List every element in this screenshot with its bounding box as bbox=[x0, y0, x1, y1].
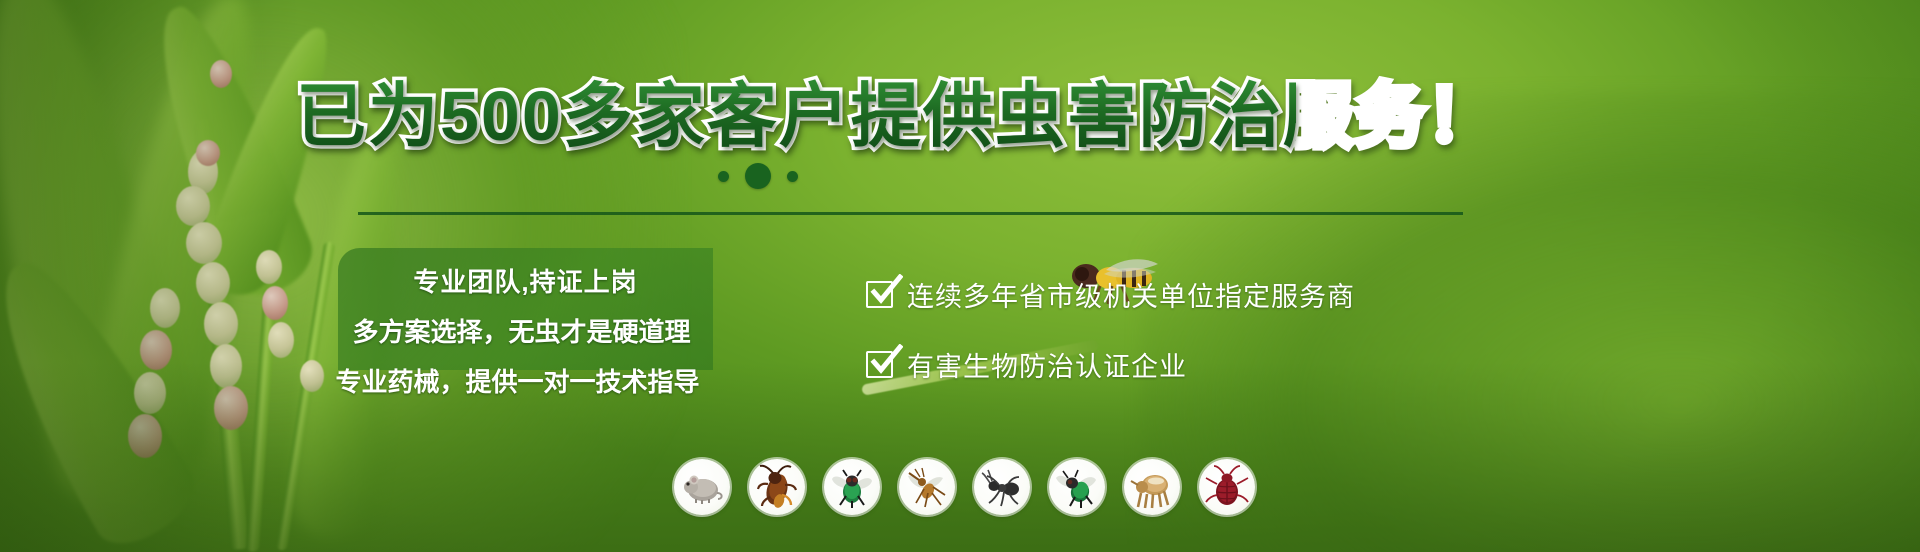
checkbox-checked-icon bbox=[866, 351, 893, 378]
flea-icon bbox=[1124, 459, 1180, 515]
dot-small-left-icon bbox=[718, 171, 729, 182]
mouse-icon bbox=[674, 459, 730, 515]
checklist-item: 连续多年省市级机关单位指定服务商 bbox=[866, 268, 1355, 320]
bedbug-icon bbox=[1199, 459, 1255, 515]
dot-small-right-icon bbox=[787, 171, 798, 182]
decorative-dots bbox=[718, 163, 798, 189]
checklist-item-label: 连续多年省市级机关单位指定服务商 bbox=[907, 275, 1355, 314]
dot-large-icon bbox=[745, 163, 771, 189]
fly-icon bbox=[1049, 459, 1105, 515]
selling-points-panel: 专业团队,持证上岗 多方案选择，无虫才是硬道理 专业药械，提供一对一技术指导 bbox=[338, 248, 713, 370]
divider-rule bbox=[358, 212, 1463, 215]
checklist-item-label: 有害生物防治认证企业 bbox=[907, 345, 1187, 384]
selling-point-3: 专业药械，提供一对一技术指导 bbox=[330, 362, 705, 399]
pest-icon-row bbox=[674, 459, 1255, 515]
checkbox-checked-icon bbox=[866, 281, 893, 308]
promo-banner: 已为500多家客户提供虫害防治服务！ 已为500多家客户提供虫害防治服务！ 专业… bbox=[0, 0, 1920, 552]
selling-point-1: 专业团队,持证上岗 bbox=[338, 262, 713, 299]
ant-icon bbox=[974, 459, 1030, 515]
credentials-checklist: 连续多年省市级机关单位指定服务商 有害生物防治认证企业 bbox=[866, 268, 1355, 408]
cockroach-icon bbox=[749, 459, 805, 515]
selling-point-2: 多方案选择，无虫才是硬道理 bbox=[334, 312, 709, 349]
mosquito-icon bbox=[899, 459, 955, 515]
page-headline: 已为500多家客户提供虫害防治服务！ bbox=[296, 76, 1296, 156]
fly-green-icon bbox=[824, 459, 880, 515]
checklist-item: 有害生物防治认证企业 bbox=[866, 338, 1355, 390]
